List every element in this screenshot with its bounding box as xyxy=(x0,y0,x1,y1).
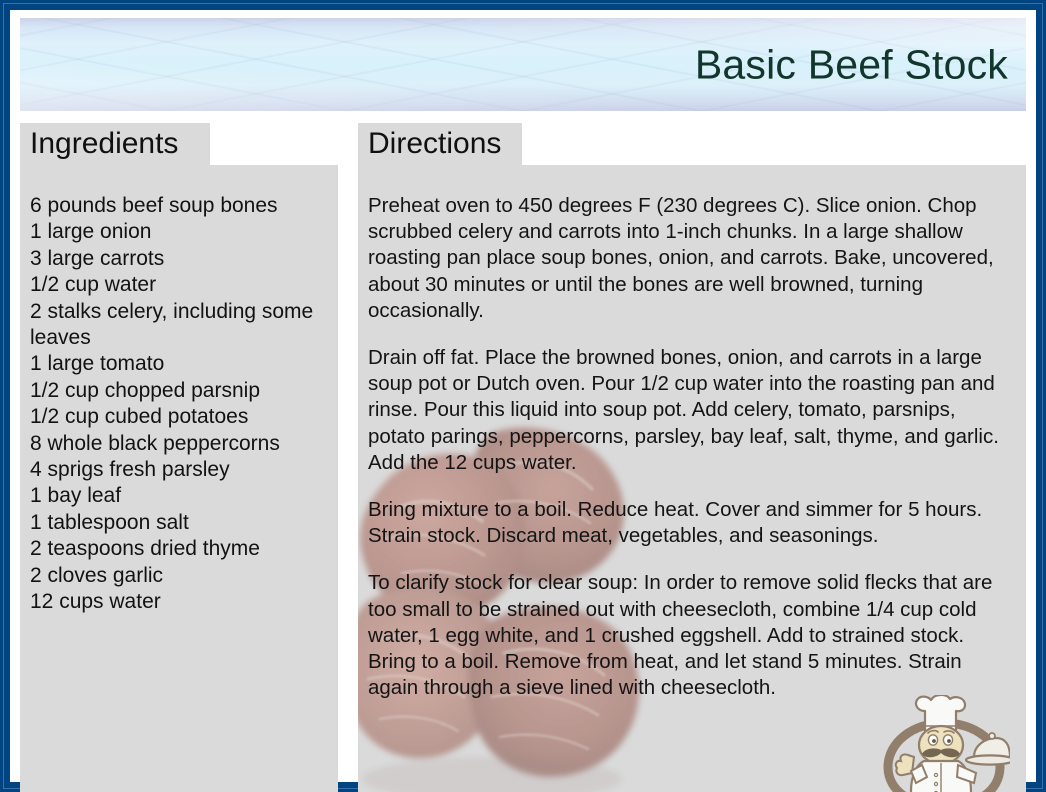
directions-heading: Directions xyxy=(358,123,522,166)
list-item: 2 stalks celery, including some leaves xyxy=(30,299,328,352)
directions-paragraph: Bring mixture to a boil. Reduce heat. Co… xyxy=(368,497,1016,549)
list-item: 12 cups water xyxy=(30,589,328,615)
directions-paragraph: Drain off fat. Place the browned bones, … xyxy=(368,345,1016,476)
directions-paragraph: To clarify stock for clear soup: In orde… xyxy=(368,570,1016,701)
directions-paragraph: Preheat oven to 450 degrees F (230 degre… xyxy=(368,193,1016,324)
list-item: 8 whole black peppercorns xyxy=(30,431,328,457)
list-item: 6 pounds beef soup bones xyxy=(30,193,328,219)
directions-column: Directions xyxy=(358,123,1026,792)
ingredients-panel: 6 pounds beef soup bones 1 large onion 3… xyxy=(20,165,338,792)
list-item: 1 tablespoon salt xyxy=(30,510,328,536)
list-item: 1/2 cup cubed potatoes xyxy=(30,404,328,430)
title-banner: Basic Beef Stock xyxy=(20,18,1026,111)
list-item: 3 large carrots xyxy=(30,246,328,272)
ingredients-list: 6 pounds beef soup bones 1 large onion 3… xyxy=(30,193,328,616)
directions-panel: Preheat oven to 450 degrees F (230 degre… xyxy=(358,165,1026,792)
directions-panel-body: Preheat oven to 450 degrees F (230 degre… xyxy=(358,165,1026,701)
chef-with-cloche-logo xyxy=(878,695,1010,792)
page-title: Basic Beef Stock xyxy=(695,44,1008,85)
list-item: 2 teaspoons dried thyme xyxy=(30,536,328,562)
list-item: 1 bay leaf xyxy=(30,483,328,509)
list-item: 1/2 cup chopped parsnip xyxy=(30,378,328,404)
list-item: 1/2 cup water xyxy=(30,272,328,298)
ingredients-panel-body: 6 pounds beef soup bones 1 large onion 3… xyxy=(20,165,338,616)
ingredients-column: Ingredients 6 pounds beef soup bones 1 l… xyxy=(20,123,338,792)
recipe-slide: Basic Beef Stock Ingredients 6 pounds be… xyxy=(0,0,1046,792)
list-item: 2 cloves garlic xyxy=(30,563,328,589)
list-item: 1 large tomato xyxy=(30,351,328,377)
ingredients-heading: Ingredients xyxy=(20,123,210,166)
list-item: 4 sprigs fresh parsley xyxy=(30,457,328,483)
list-item: 1 large onion xyxy=(30,219,328,245)
